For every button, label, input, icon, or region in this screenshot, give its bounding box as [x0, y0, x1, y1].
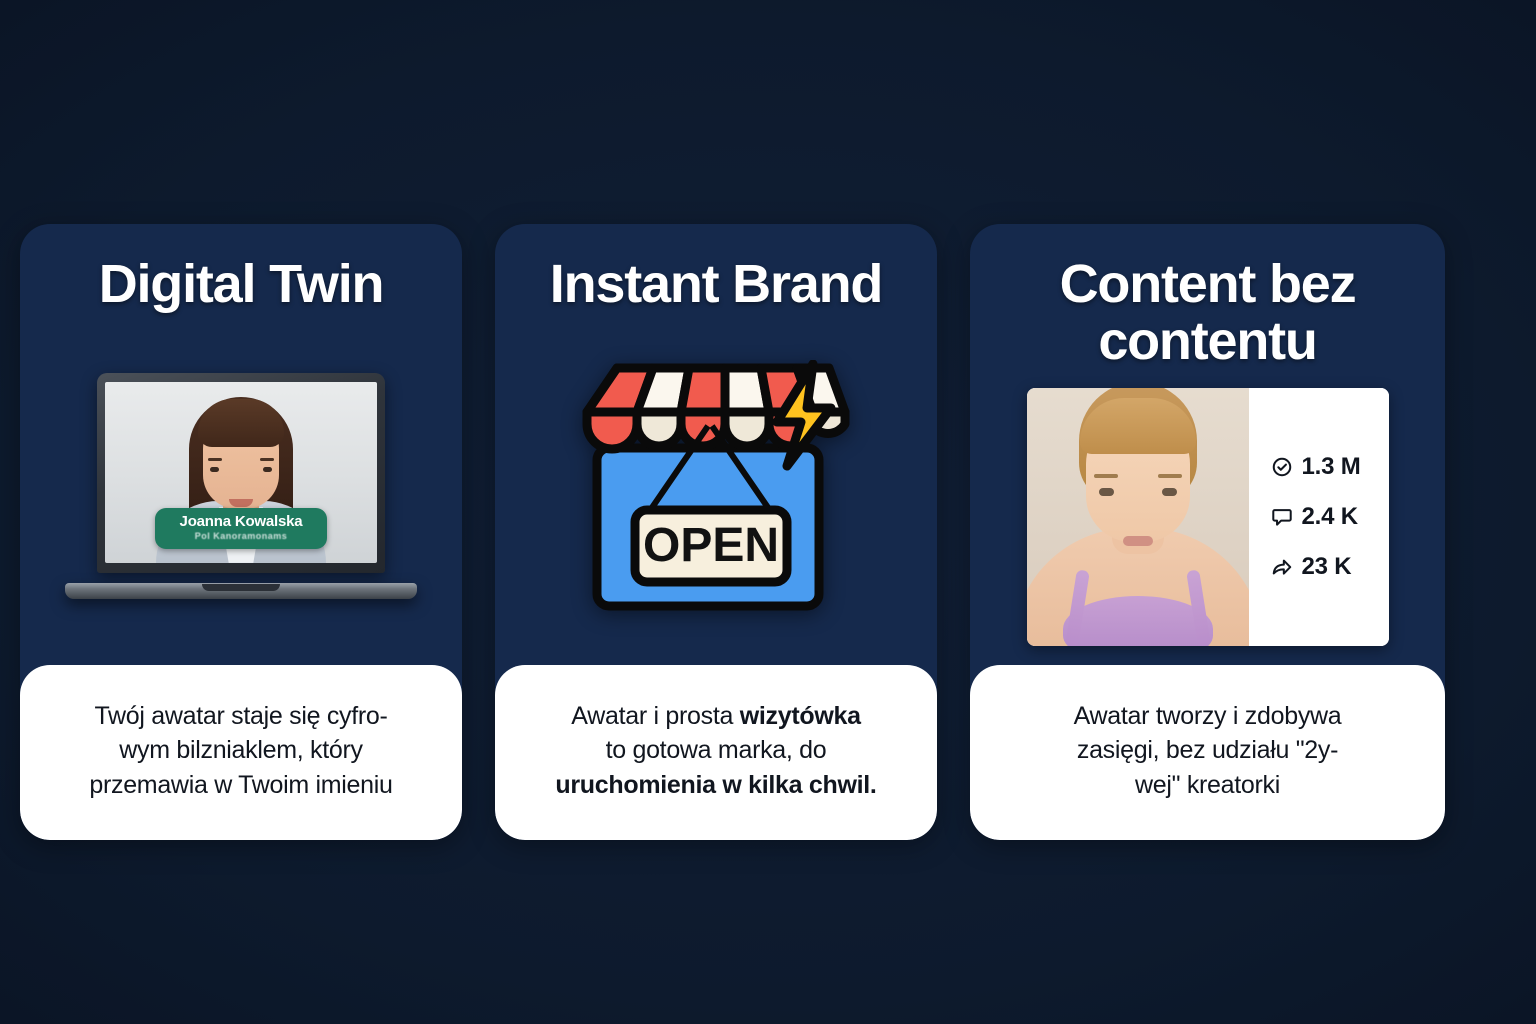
description-line: Awatar tworzy i zdobywa: [988, 699, 1427, 734]
stat-row-comments: 2.4 K: [1271, 503, 1389, 531]
description-line: Twój awatar staje się cyfro-: [38, 699, 444, 734]
creator-brow-right: [1094, 474, 1118, 478]
card-description-instant-brand: Awatar i prosta wizytówka to gotowa mark…: [495, 665, 937, 840]
avatar-hair-front: [198, 399, 284, 447]
creator-lips: [1123, 536, 1153, 546]
card-visual-laptop: Joanna Kowalska Pol Kanoramonams: [20, 313, 462, 665]
check-circle-icon: [1271, 456, 1293, 478]
stat-value-shares: 23 K: [1302, 553, 1352, 581]
post-stats-panel: 1.3 M 2.4 K 23 K: [1249, 388, 1389, 646]
laptop-illustration: Joanna Kowalska Pol Kanoramonams: [65, 373, 417, 605]
avatar-eye-left: [263, 467, 272, 472]
stat-value-comments: 2.4 K: [1302, 503, 1358, 531]
card-description-digital-twin: Twój awatar staje się cyfro- wym bilznia…: [20, 665, 462, 840]
avatar-name-label: Joanna Kowalska: [165, 514, 317, 531]
description-line: Awatar i prosta wizytówka: [513, 699, 919, 734]
stat-value-views: 1.3 M: [1302, 453, 1361, 481]
page-background: Digital Twin: [0, 0, 1536, 1024]
feature-card-digital-twin[interactable]: Digital Twin: [20, 224, 462, 840]
open-sign-text: OPEN: [643, 519, 779, 572]
avatar-brow-left: [260, 458, 274, 461]
card-visual-social-post: 1.3 M 2.4 K 23 K: [970, 369, 1445, 665]
feature-card-content-bez-contentu[interactable]: Content bez contentu: [970, 224, 1445, 840]
card-title-digital-twin: Digital Twin: [20, 256, 462, 313]
laptop-lid: Joanna Kowalska Pol Kanoramonams: [97, 373, 385, 573]
creator-hair-front: [1080, 398, 1196, 454]
description-line: przemawia w Twoim imieniu: [38, 768, 444, 803]
creator-brow-left: [1158, 474, 1182, 478]
avatar-eye-right: [210, 467, 219, 472]
description-text: Awatar i prosta: [571, 702, 739, 730]
feature-card-instant-brand[interactable]: Instant Brand: [495, 224, 937, 840]
avatar-mouth: [229, 499, 253, 507]
laptop-base: [65, 583, 417, 599]
avatar-name-subtitle: Pol Kanoramonams: [165, 531, 317, 542]
stat-row-views: 1.3 M: [1271, 453, 1389, 481]
avatar-brow-right: [208, 458, 222, 461]
description-line: zasięgi, bez udziału "2y-: [988, 733, 1427, 768]
card-visual-storefront: OPEN: [495, 313, 937, 665]
creator-eye-right: [1099, 488, 1114, 496]
description-emphasis: uruchomienia w kilka chwil.: [555, 771, 876, 799]
creator-eye-left: [1162, 488, 1177, 496]
comment-icon: [1271, 506, 1293, 528]
feature-cards-row: Digital Twin: [20, 224, 1470, 840]
social-post-card: 1.3 M 2.4 K 23 K: [1027, 388, 1389, 646]
description-emphasis: wizytówka: [740, 702, 861, 730]
avatar-name-badge: Joanna Kowalska Pol Kanoramonams: [155, 508, 327, 549]
description-line: wym bilzniaklem, który: [38, 733, 444, 768]
laptop-screen: Joanna Kowalska Pol Kanoramonams: [105, 382, 377, 563]
creator-photo: [1027, 388, 1249, 646]
description-line: wej" kreatorki: [988, 768, 1427, 803]
card-title-content-bez-contentu: Content bez contentu: [970, 256, 1445, 369]
share-arrow-icon: [1271, 556, 1293, 578]
description-line: uruchomienia w kilka chwil.: [513, 768, 919, 803]
stat-row-shares: 23 K: [1271, 553, 1389, 581]
storefront-illustration: OPEN: [581, 360, 851, 618]
card-title-instant-brand: Instant Brand: [495, 256, 937, 313]
description-line: to gotowa marka, do: [513, 733, 919, 768]
laptop-trackpad-notch: [202, 584, 280, 591]
card-description-content-bez-contentu: Awatar tworzy i zdobywa zasięgi, bez udz…: [970, 665, 1445, 840]
